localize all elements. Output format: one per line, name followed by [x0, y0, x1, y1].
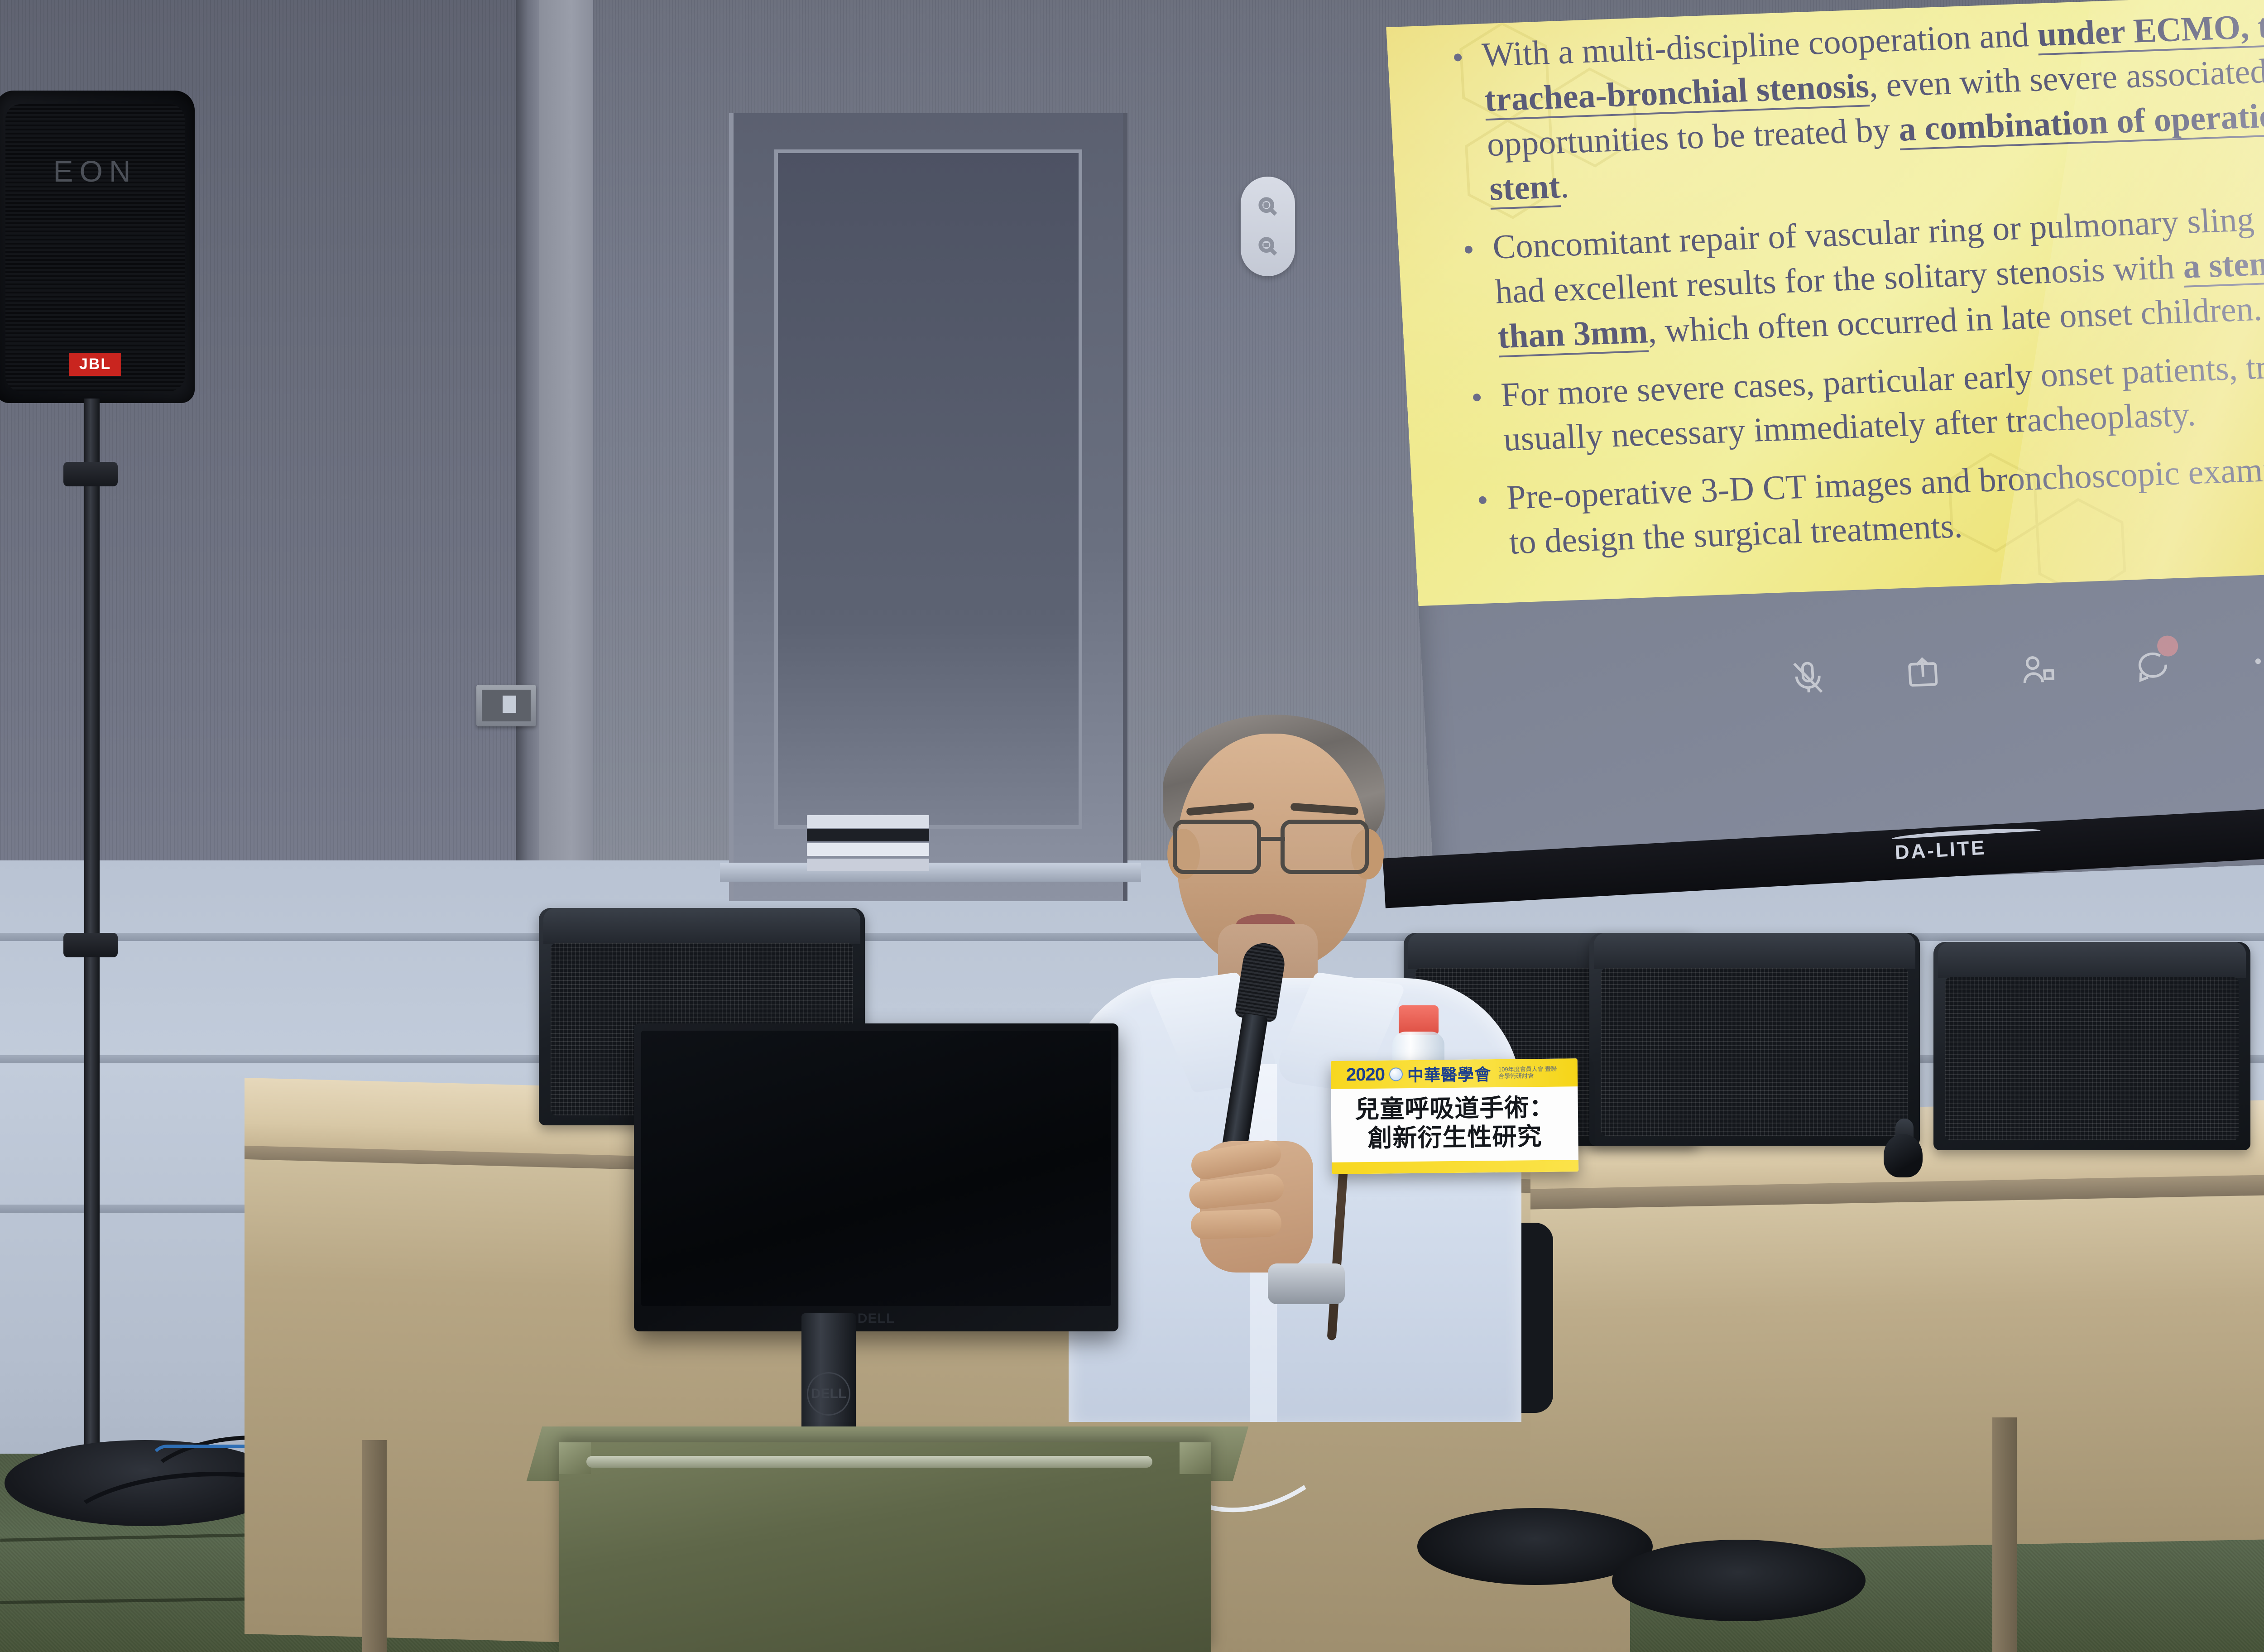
- pa-speaker: EON JBL: [0, 91, 195, 403]
- monitor-brand-logo: DELL: [858, 1311, 895, 1326]
- projection-screen: With a multi-discipline cooperation and …: [1386, 0, 2264, 895]
- wall-data-port-plate: [476, 685, 536, 726]
- conference-table-right-front: [1530, 1191, 2264, 1553]
- video-call-toolbar[interactable]: [1756, 604, 2264, 730]
- placard-emblem-icon: [1389, 1067, 1403, 1081]
- share-screen-button[interactable]: [1890, 641, 1957, 706]
- wall-jack-icon: [503, 696, 516, 713]
- presentation-placard: 2020 中華醫學會 109年度會員大會 暨聯合學術研討會 兒童呼吸道手術： 創…: [1331, 1058, 1579, 1174]
- speaker-brand-logo: JBL: [69, 353, 121, 376]
- table-leg-left: [362, 1440, 387, 1652]
- desk-microphone-1: [1884, 1119, 1923, 1177]
- share-screen-icon: [1902, 653, 1943, 694]
- speaker-grille: [5, 104, 185, 391]
- participants-button[interactable]: [2005, 637, 2072, 702]
- microphone-off-icon: [1787, 658, 1828, 698]
- ellipsis-icon: [2247, 641, 2264, 681]
- wall-pillar: [539, 0, 593, 888]
- chair-3: [1589, 933, 1920, 1146]
- road-case-rail: [586, 1456, 1152, 1468]
- placard-title-line-2: 創新衍生性研究: [1331, 1121, 1578, 1153]
- projector-screen-brand: DA-LITE: [1894, 836, 1986, 864]
- speaker-stand-height-adjust: [63, 933, 118, 957]
- placard-year: 2020: [1346, 1064, 1385, 1085]
- more-options-button[interactable]: [2234, 628, 2264, 694]
- participants-icon: [2017, 649, 2058, 690]
- table-leg-right: [1992, 1417, 2017, 1652]
- slide-bullet-1: With a multi-discipline cooperation and …: [1441, 0, 2264, 213]
- zoom-out-icon[interactable]: [1256, 235, 1280, 258]
- chat-button[interactable]: [2120, 632, 2187, 698]
- conference-room-scene: With a multi-discipline cooperation and …: [0, 0, 2264, 1652]
- monitor-stand-logo: DELL: [807, 1372, 850, 1416]
- placard-title-line-1: 兒童呼吸道手術：: [1331, 1086, 1578, 1124]
- slide-bullet-2: Concomitant repair of vascular ring or p…: [1452, 185, 2264, 360]
- zoom-in-icon[interactable]: [1256, 195, 1280, 218]
- presentation-slide: With a multi-discipline cooperation and …: [1386, 0, 2264, 606]
- speaker-stand-clamp: [63, 462, 118, 486]
- equipment-road-case: [559, 1442, 1211, 1652]
- placard-subtitle: 109年度會員大會 暨聯合學術研討會: [1498, 1066, 1557, 1080]
- placard-organization: 中華醫學會: [1407, 1061, 1492, 1086]
- chair-3-base: [1612, 1540, 1866, 1621]
- speaker-model-label: EON: [0, 154, 195, 188]
- screen-control-panel[interactable]: [1241, 177, 1295, 276]
- placard-header: 2020 中華醫學會 109年度會員大會 暨聯合學術研討會: [1331, 1058, 1578, 1089]
- person-glasses: [1168, 820, 1381, 879]
- mute-microphone-button[interactable]: [1775, 645, 1842, 711]
- dell-monitor: DELL: [634, 1023, 1118, 1331]
- slide-bullet-list: With a multi-discipline cooperation and …: [1441, 0, 2264, 580]
- monitor-screen: [641, 1031, 1111, 1306]
- bottle-cap: [1399, 1005, 1439, 1035]
- stacked-books: [807, 815, 929, 876]
- monitor-bezel: DELL: [634, 1306, 1118, 1331]
- chair-4: [1933, 942, 2250, 1150]
